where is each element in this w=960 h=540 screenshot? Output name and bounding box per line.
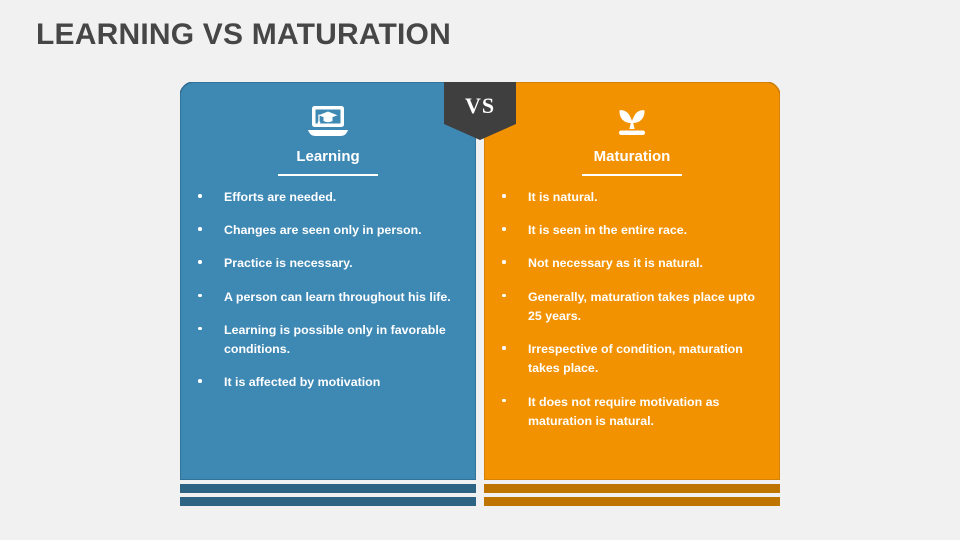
bullet-list-maturation: It is natural. It is seen in the entire … — [484, 188, 780, 445]
bullet-dot-icon — [198, 327, 202, 331]
list-item-text: Learning is possible only in favorable c… — [224, 323, 446, 356]
versus-badge: VS — [444, 82, 516, 140]
list-item-text: It does not require motivation as matura… — [528, 395, 719, 428]
list-item: Generally, maturation takes place upto 2… — [492, 288, 764, 326]
list-item-text: Not necessary as it is natural. — [528, 256, 703, 270]
bullet-dot-icon — [198, 227, 202, 231]
accent-bar-learning-2 — [180, 497, 476, 506]
list-item-text: Changes are seen only in person. — [224, 223, 422, 237]
bullet-dot-icon — [198, 194, 202, 198]
slide-canvas: LEARNING VS MATURATION Learning — [0, 0, 960, 540]
list-item: It is natural. — [492, 188, 764, 207]
accent-bar-learning-1 — [180, 484, 476, 493]
bullet-dot-icon — [502, 399, 506, 403]
list-item-text: Irrespective of condition, maturation ta… — [528, 342, 743, 375]
list-item: Not necessary as it is natural. — [492, 254, 764, 273]
list-item: A person can learn throughout his life. — [188, 288, 460, 307]
comparison-panel-maturation: Maturation It is natural. It is seen in … — [484, 82, 780, 480]
bullet-dot-icon — [502, 194, 506, 198]
list-item-text: It is seen in the entire race. — [528, 223, 687, 237]
list-item: Efforts are needed. — [188, 188, 460, 207]
bullet-dot-icon — [502, 260, 506, 264]
bullet-dot-icon — [502, 294, 506, 298]
bullet-dot-icon — [502, 346, 506, 350]
panel-heading-maturation: Maturation — [484, 148, 780, 165]
panel-heading-rule — [582, 174, 682, 176]
list-item: It is seen in the entire race. — [492, 221, 764, 240]
list-item-text: Practice is necessary. — [224, 256, 353, 270]
panel-heading-learning: Learning — [180, 148, 476, 165]
panel-heading-rule — [278, 174, 378, 176]
list-item-text: It is affected by motivation — [224, 375, 380, 389]
comparison-panel-learning: Learning Efforts are needed. Changes are… — [180, 82, 476, 480]
list-item: Irrespective of condition, maturation ta… — [492, 340, 764, 378]
sprout-plant-icon — [484, 98, 780, 146]
bullet-dot-icon — [502, 227, 506, 231]
page-title: LEARNING VS MATURATION — [36, 18, 451, 52]
accent-bar-maturation-1 — [484, 484, 780, 493]
accent-bar-maturation-2 — [484, 497, 780, 506]
laptop-graduation-cap-icon — [180, 98, 476, 146]
list-item-text: A person can learn throughout his life. — [224, 290, 451, 304]
list-item-text: It is natural. — [528, 190, 598, 204]
bullet-dot-icon — [198, 260, 202, 264]
list-item: It is affected by motivation — [188, 373, 460, 392]
bullet-dot-icon — [198, 294, 202, 298]
list-item: It does not require motivation as matura… — [492, 393, 764, 431]
list-item: Practice is necessary. — [188, 254, 460, 273]
bullet-dot-icon — [198, 379, 202, 383]
list-item: Changes are seen only in person. — [188, 221, 460, 240]
bullet-list-learning: Efforts are needed. Changes are seen onl… — [180, 188, 476, 407]
list-item: Learning is possible only in favorable c… — [188, 321, 460, 359]
list-item-text: Generally, maturation takes place upto 2… — [528, 290, 755, 323]
list-item-text: Efforts are needed. — [224, 190, 336, 204]
versus-badge-label: VS — [444, 82, 516, 130]
